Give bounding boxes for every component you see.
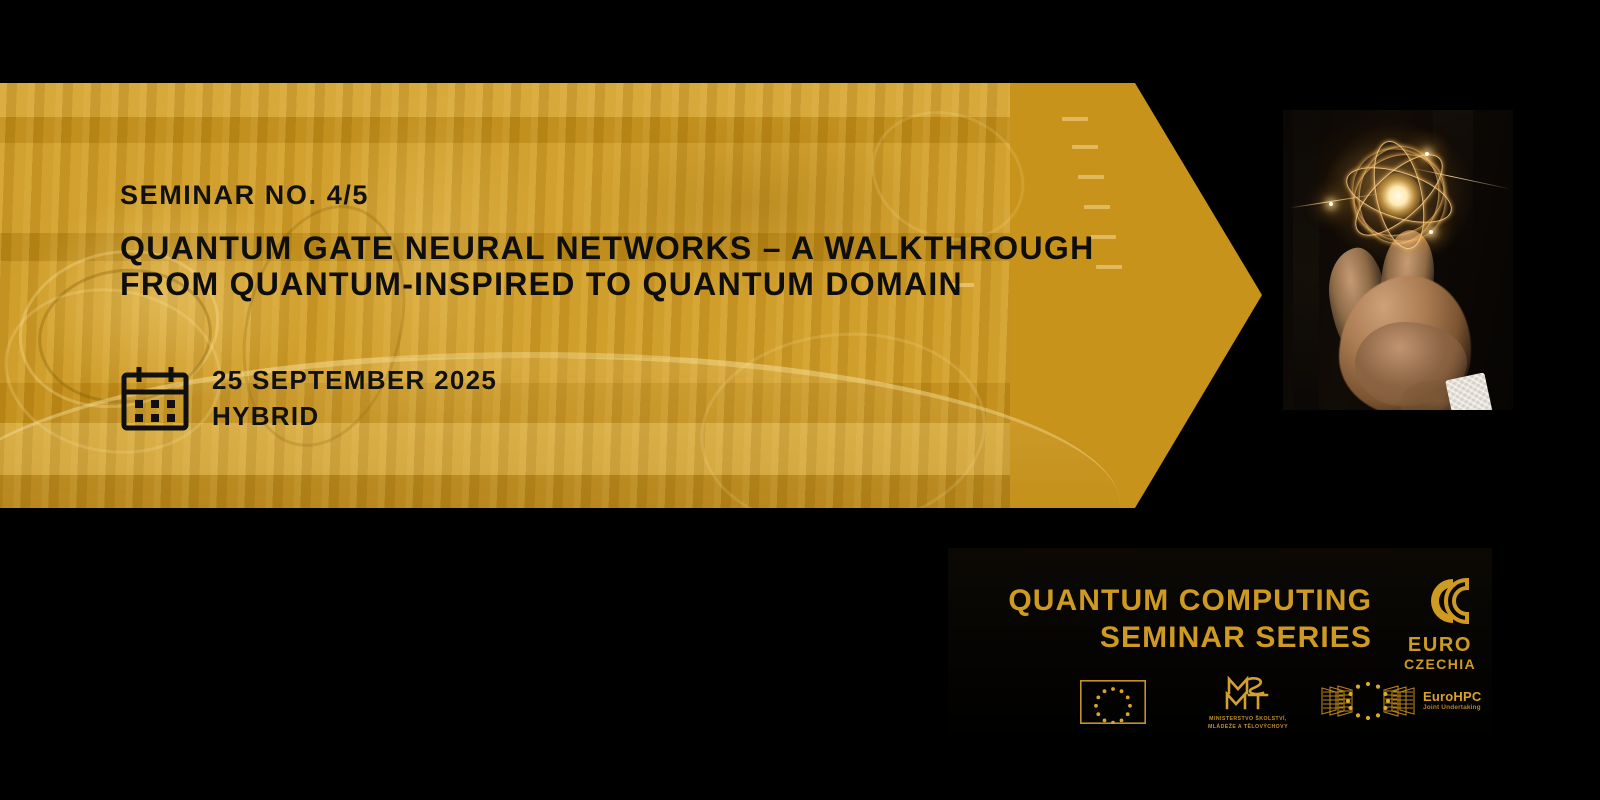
title-line-2: FROM QUANTUM-INSPIRED TO QUANTUM DOMAIN	[120, 266, 1095, 302]
panel-tick	[1062, 117, 1088, 121]
msmt-logo-icon	[1219, 676, 1277, 710]
series-title-line-1: QUANTUM COMPUTING	[972, 582, 1372, 619]
funder-logo-row: MINISTERSTVO ŠKOLSTVÍ, MLÁDEŽE A TĚLOVÝC…	[1070, 676, 1490, 732]
page-title: QUANTUM GATE NEURAL NETWORKS – A WALKTHR…	[120, 230, 1095, 302]
panel-tick	[1078, 175, 1104, 179]
eurohpc-subtitle: Joint Undertaking	[1423, 704, 1481, 712]
calendar-icon	[120, 363, 190, 433]
eu-flag-icon	[1080, 680, 1146, 724]
funder-logo-msmt: MINISTERSTVO ŠKOLSTVÍ, MLÁDEŽE A TĚLOVÝC…	[1188, 676, 1308, 731]
title-line-1: QUANTUM GATE NEURAL NETWORKS – A WALKTHR…	[120, 230, 1095, 266]
atom-spark	[1425, 152, 1429, 156]
series-title: QUANTUM COMPUTING SEMINAR SERIES	[972, 582, 1372, 656]
eurohpc-name: EuroHPC	[1423, 690, 1481, 704]
msmt-caption-line-1: MINISTERSTVO ŠKOLSTVÍ,	[1188, 716, 1308, 723]
atom-nucleus-glow	[1375, 173, 1421, 219]
logo-name: EURO	[1392, 634, 1488, 656]
funder-logo-eu	[1080, 680, 1146, 729]
eurocc-czechia-logo: EURO CZECHIA	[1392, 570, 1488, 672]
eurocc-double-c-icon	[1409, 570, 1471, 632]
atom-spark	[1329, 202, 1333, 206]
atom-spark	[1429, 230, 1433, 234]
panel-tick	[1084, 205, 1110, 209]
eurohpc-wordmark: EuroHPC Joint Undertaking	[1423, 690, 1481, 712]
event-meta: 25 SEPTEMBER 2025 HYBRID	[120, 362, 497, 434]
event-format: HYBRID	[212, 398, 497, 434]
panel-tick	[1096, 265, 1122, 269]
funder-logo-eurohpc: EuroHPC Joint Undertaking	[1320, 680, 1481, 722]
event-date: 25 SEPTEMBER 2025	[212, 362, 497, 398]
msmt-caption-line-2: MLÁDEŽE A TĚLOVÝCHOVY	[1188, 724, 1308, 731]
glowing-atom-icon	[1337, 138, 1459, 250]
logo-subname: CZECHIA	[1392, 656, 1488, 672]
poster-canvas: SEMINAR NO. 4/5 QUANTUM GATE NEURAL NETW…	[0, 0, 1600, 800]
seminar-number-label: SEMINAR NO. 4/5	[120, 180, 369, 211]
event-details: 25 SEPTEMBER 2025 HYBRID	[212, 362, 497, 434]
hero-photo-atom-in-hand	[1283, 110, 1513, 410]
panel-tick	[1072, 145, 1098, 149]
eurohpc-icon	[1320, 680, 1416, 722]
series-title-line-2: SEMINAR SERIES	[972, 619, 1372, 656]
